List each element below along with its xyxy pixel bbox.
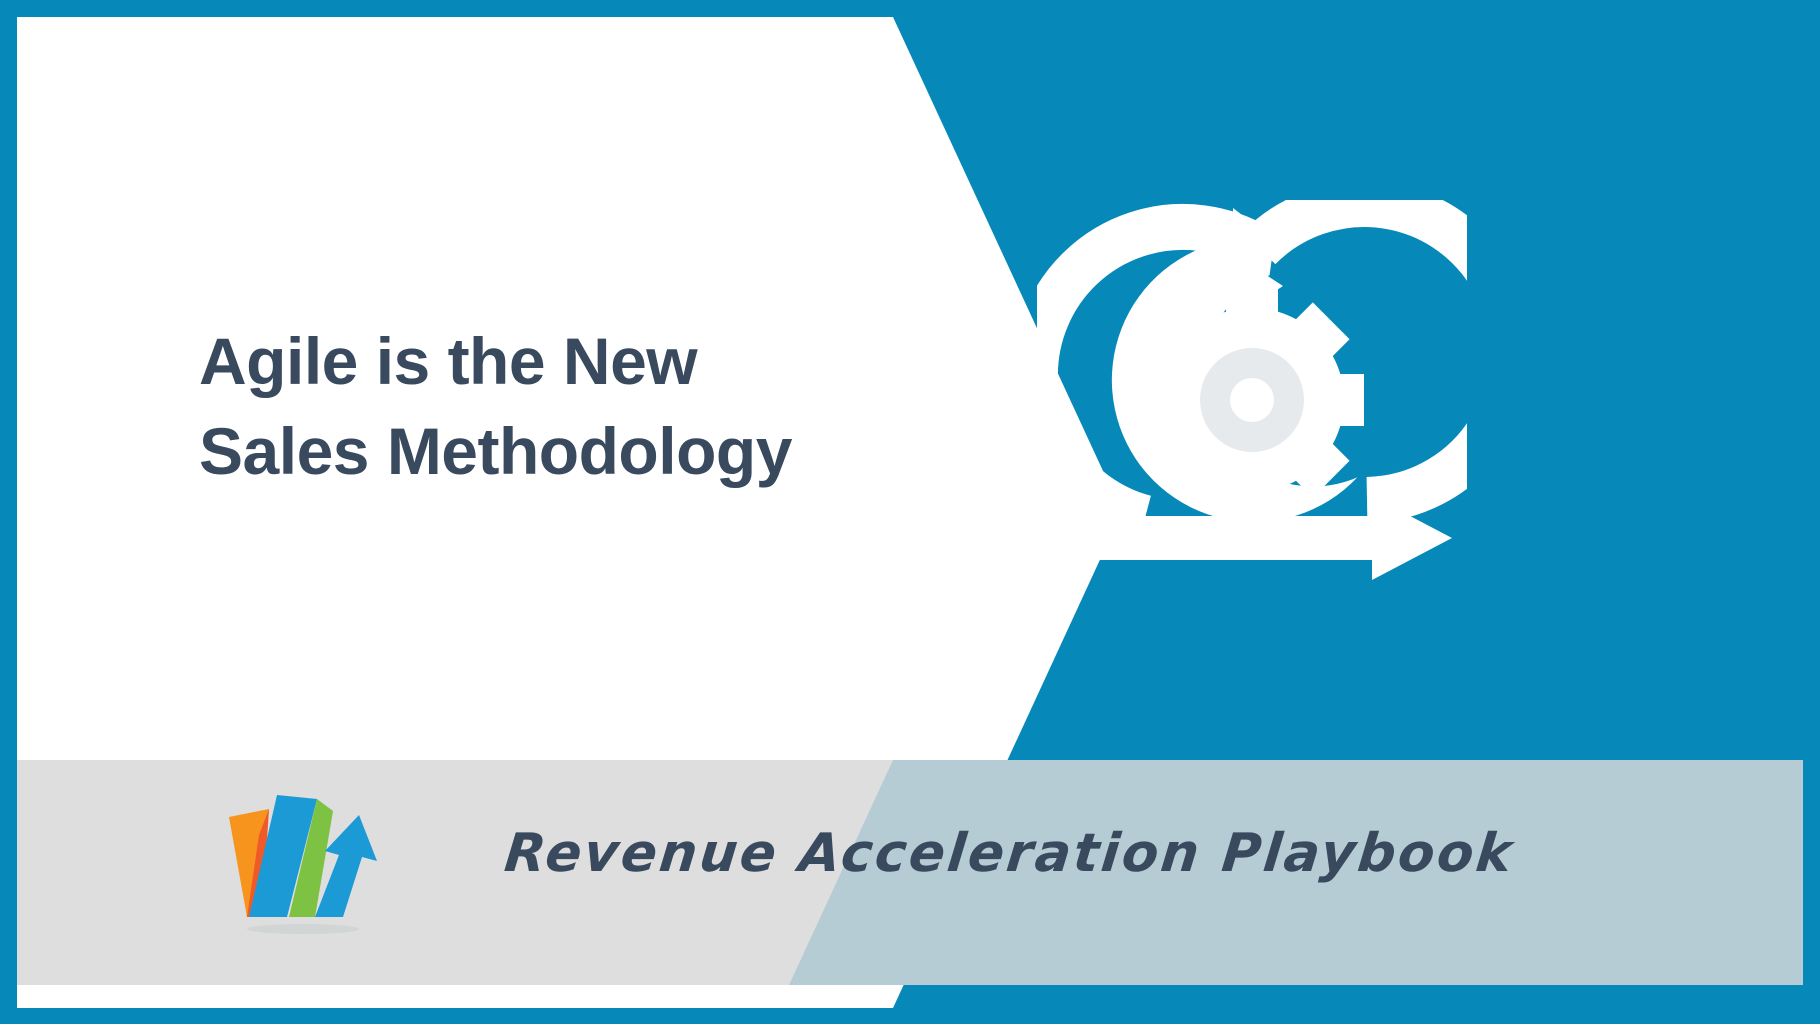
headline-line-2: Sales Methodology — [199, 407, 959, 497]
page-title: Agile is the New Sales Methodology — [199, 317, 959, 497]
agile-sprint-icon — [1037, 200, 1467, 600]
slide-canvas: Agile is the New Sales Methodology — [0, 0, 1820, 1024]
headline-line-1: Agile is the New — [199, 317, 959, 407]
winmo-w-arrow-logo — [207, 777, 397, 947]
slide-inner-canvas: Agile is the New Sales Methodology — [17, 17, 1803, 1008]
footer-tagline: Revenue Acceleration Playbook — [502, 823, 1517, 884]
